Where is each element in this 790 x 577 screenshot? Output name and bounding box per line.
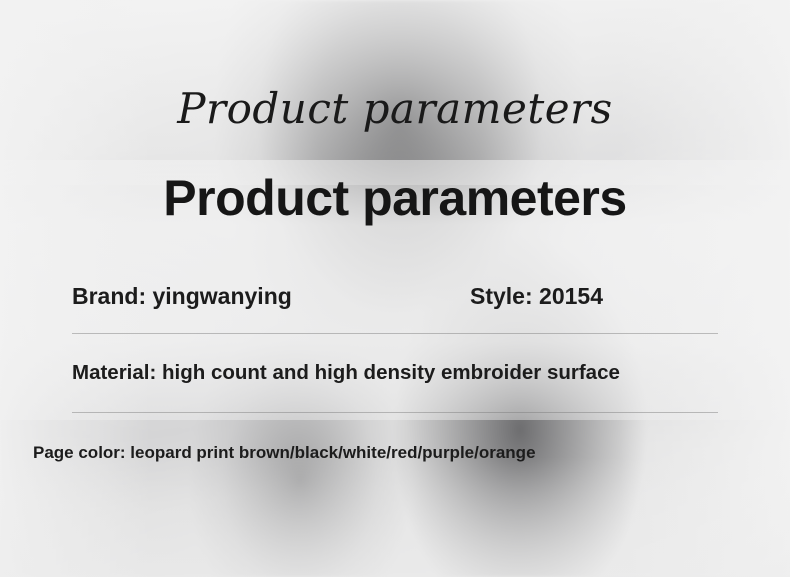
style-label: Style: 20154 xyxy=(470,283,603,310)
brand-style-row: Brand: yingwanying Style: 20154 xyxy=(72,283,718,323)
content-layer: Product parameters Product parameters Br… xyxy=(0,0,790,577)
page-title: Product parameters xyxy=(0,172,790,225)
page-color-label: Page color: leopard print brown/black/wh… xyxy=(33,443,536,463)
divider-2 xyxy=(72,412,718,413)
brand-label: Brand: yingwanying xyxy=(72,283,292,310)
script-title: Product parameters xyxy=(0,88,790,130)
material-label: Material: high count and high density em… xyxy=(72,361,620,385)
divider-1 xyxy=(72,333,718,334)
product-parameters-page: Product parameters Product parameters Br… xyxy=(0,0,790,577)
